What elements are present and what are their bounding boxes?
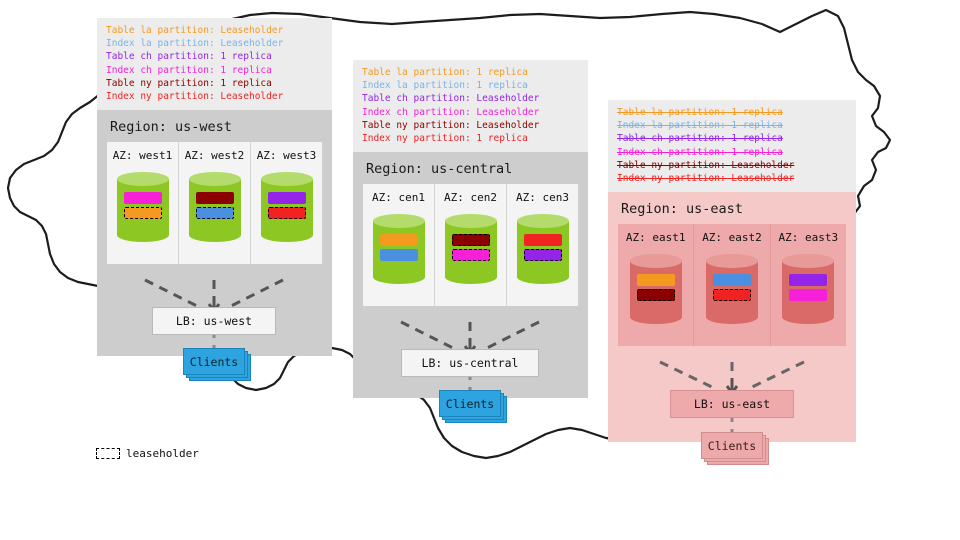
az-cell: AZ: cen1 (363, 184, 435, 306)
region-panel-us-west: Region: us-west AZ: west1AZ: west2AZ: we… (97, 110, 332, 356)
range-replicas (380, 234, 418, 261)
clients-us-west[interactable]: Clients (183, 348, 245, 375)
partition-info-line: Table ch partition: 1 replica (617, 132, 847, 145)
az-label: AZ: east2 (694, 231, 769, 244)
database-node-cylinder-icon[interactable] (445, 214, 497, 282)
partition-info-line: Index ch partition: Leaseholder (362, 106, 579, 119)
range-replica-leaseholder (268, 207, 306, 219)
region-panel-us-east: Region: us-east AZ: east1AZ: east2AZ: ea… (608, 192, 856, 442)
range-replica (268, 192, 306, 204)
range-replicas (124, 192, 162, 219)
az-cell: AZ: west2 (179, 142, 251, 264)
clients-label: Clients (183, 348, 245, 375)
region-title: Region: us-east (608, 192, 856, 224)
partition-info-us-east: Table la partition: 1 replicaIndex la pa… (608, 100, 856, 192)
az-strip: AZ: cen1AZ: cen2AZ: cen3 (363, 184, 578, 306)
range-replicas (268, 192, 306, 219)
clients-label: Clients (701, 432, 763, 459)
az-label: AZ: west3 (251, 149, 322, 162)
partition-info-line: Index ny partition: Leaseholder (106, 90, 323, 103)
az-strip: AZ: east1AZ: east2AZ: east3 (618, 224, 846, 346)
cylinder-top (517, 214, 569, 228)
range-replica (713, 274, 751, 286)
partition-info-line: Table ch partition: 1 replica (106, 50, 323, 63)
range-replica (524, 234, 562, 246)
load-balancer-us-west[interactable]: LB: us-west (152, 307, 276, 335)
partition-info-line: Index ch partition: 1 replica (106, 64, 323, 77)
range-replicas (637, 274, 675, 301)
partition-info-line: Table ny partition: Leaseholder (617, 159, 847, 172)
range-replicas (789, 274, 827, 301)
az-strip: AZ: west1AZ: west2AZ: west3 (107, 142, 322, 264)
database-node-cylinder-icon[interactable] (782, 254, 834, 322)
range-replica (380, 234, 418, 246)
partition-info-line: Index la partition: 1 replica (362, 79, 579, 92)
range-replica (637, 274, 675, 286)
range-replica-leaseholder (524, 249, 562, 261)
region-title: Region: us-central (353, 152, 588, 184)
range-replica (196, 192, 234, 204)
range-replica-leaseholder (196, 207, 234, 219)
cylinder-top (373, 214, 425, 228)
partition-info-line: Table la partition: Leaseholder (106, 24, 323, 37)
az-label: AZ: cen2 (435, 191, 506, 204)
az-cell: AZ: cen2 (435, 184, 507, 306)
region-cluster-us-central: Table la partition: 1 replicaIndex la pa… (353, 60, 588, 398)
region-title: Region: us-west (97, 110, 332, 142)
partition-info-line: Index la partition: 1 replica (617, 119, 847, 132)
database-node-cylinder-icon[interactable] (373, 214, 425, 282)
cylinder-top (189, 172, 241, 186)
clients-us-central[interactable]: Clients (439, 390, 501, 417)
clients-us-east[interactable]: Clients (701, 432, 763, 459)
range-replica (789, 274, 827, 286)
range-replica-leaseholder (452, 249, 490, 261)
partition-info-line: Table ny partition: Leaseholder (362, 119, 579, 132)
partition-info-us-central: Table la partition: 1 replicaIndex la pa… (353, 60, 588, 152)
range-replicas (452, 234, 490, 261)
region-panel-us-central: Region: us-central AZ: cen1AZ: cen2AZ: c… (353, 152, 588, 398)
cylinder-top (117, 172, 169, 186)
az-cell: AZ: east3 (771, 224, 846, 346)
load-balancer-us-east[interactable]: LB: us-east (670, 390, 794, 418)
range-replica (380, 249, 418, 261)
range-replica-leaseholder (713, 289, 751, 301)
az-label: AZ: west1 (107, 149, 178, 162)
cylinder-top (445, 214, 497, 228)
database-node-cylinder-icon[interactable] (517, 214, 569, 282)
az-label: AZ: east1 (618, 231, 693, 244)
range-replica-leaseholder (452, 234, 490, 246)
az-label: AZ: west2 (179, 149, 250, 162)
range-replicas (196, 192, 234, 219)
region-cluster-us-east: Table la partition: 1 replicaIndex la pa… (608, 100, 856, 442)
range-replica (124, 192, 162, 204)
dashed-rect-icon (96, 448, 120, 459)
database-node-cylinder-icon[interactable] (117, 172, 169, 240)
partition-info-line: Table la partition: 1 replica (617, 106, 847, 119)
partition-info-us-west: Table la partition: LeaseholderIndex la … (97, 18, 332, 110)
partition-info-line: Index ny partition: 1 replica (362, 132, 579, 145)
region-cluster-us-west: Table la partition: LeaseholderIndex la … (97, 18, 332, 356)
range-replica-leaseholder (124, 207, 162, 219)
partition-info-line: Table la partition: 1 replica (362, 66, 579, 79)
legend-label: leaseholder (126, 447, 199, 460)
az-cell: AZ: cen3 (507, 184, 578, 306)
range-replica (789, 289, 827, 301)
az-label: AZ: east3 (771, 231, 846, 244)
az-cell: AZ: west1 (107, 142, 179, 264)
range-replicas (713, 274, 751, 301)
partition-info-line: Index la partition: Leaseholder (106, 37, 323, 50)
partition-info-line: Table ch partition: Leaseholder (362, 92, 579, 105)
range-replicas (524, 234, 562, 261)
database-node-cylinder-icon[interactable] (189, 172, 241, 240)
az-cell: AZ: east2 (694, 224, 770, 346)
range-replica-leaseholder (637, 289, 675, 301)
load-balancer-us-central[interactable]: LB: us-central (401, 349, 539, 377)
az-label: AZ: cen1 (363, 191, 434, 204)
database-node-cylinder-icon[interactable] (261, 172, 313, 240)
az-label: AZ: cen3 (507, 191, 578, 204)
cylinder-top (261, 172, 313, 186)
partition-info-line: Table ny partition: 1 replica (106, 77, 323, 90)
partition-info-line: Index ch partition: 1 replica (617, 146, 847, 159)
legend: leaseholder (96, 447, 199, 460)
clients-label: Clients (439, 390, 501, 417)
az-cell: AZ: east1 (618, 224, 694, 346)
az-cell: AZ: west3 (251, 142, 322, 264)
database-node-cylinder-icon[interactable] (630, 254, 682, 322)
database-node-cylinder-icon[interactable] (706, 254, 758, 322)
partition-info-line: Index ny partition: Leaseholder (617, 172, 847, 185)
